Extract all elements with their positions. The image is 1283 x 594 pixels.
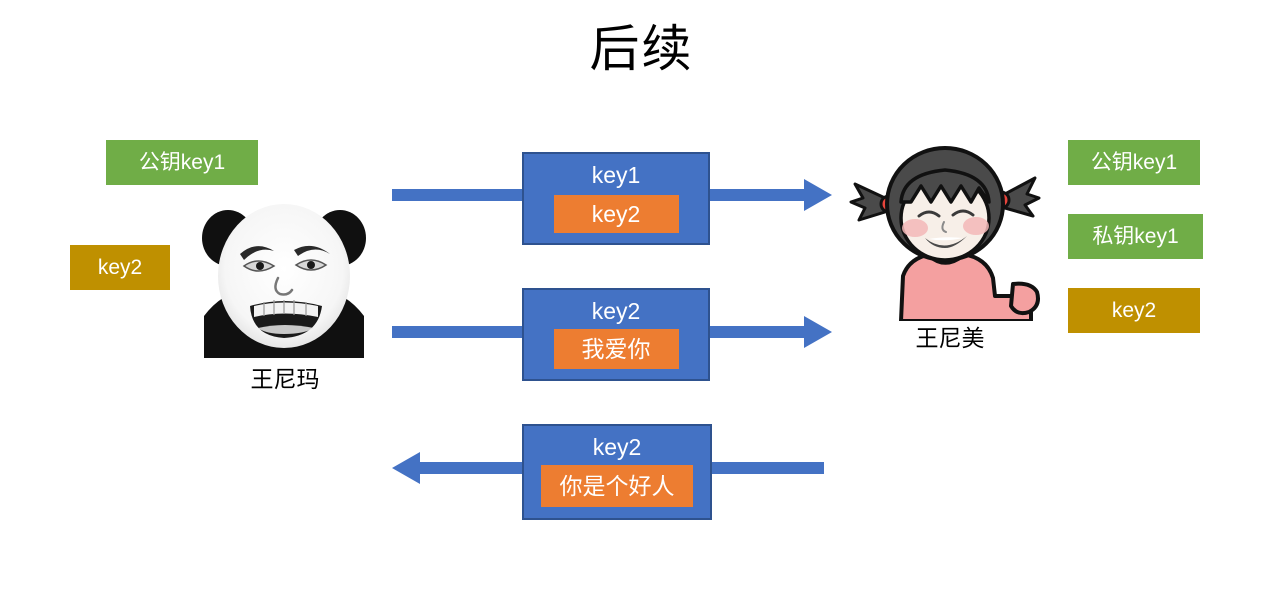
receiver-public-key-label: 公钥key1 [1091,152,1177,173]
receiver-public-key-tag: 公钥key1 [1068,140,1200,185]
sender-public-key-label: 公钥key1 [139,152,225,173]
receiver-figure [845,136,1045,321]
page-title: 后续 [0,18,1283,80]
message-2-inner-payload: 我爱你 [554,329,679,369]
message-2-outer-label: key2 [592,300,641,323]
sender-figure [194,196,374,358]
receiver-name-caption: 王尼美 [860,327,1040,350]
message-box-3: key2 你是个好人 [522,424,712,520]
message-1-outer-label: key1 [592,164,641,187]
message-3-inner-payload: 你是个好人 [541,465,693,507]
panda-face-icon [194,196,374,358]
receiver-symmetric-key-label: key2 [1112,300,1156,321]
sender-public-key-tag: 公钥key1 [106,140,258,185]
receiver-private-key-label: 私钥key1 [1092,226,1178,247]
receiver-private-key-tag: 私钥key1 [1068,214,1203,259]
message-box-2: key2 我爱你 [522,288,710,381]
receiver-symmetric-key-tag: key2 [1068,288,1200,333]
sender-symmetric-key-tag: key2 [70,245,170,290]
message-1-inner-payload: key2 [554,195,679,233]
message-3-outer-label: key2 [593,436,642,459]
girl-pigtails-icon [845,136,1045,321]
message-box-1: key1 key2 [522,152,710,245]
sender-symmetric-key-label: key2 [98,257,142,278]
slide-canvas: 后续 公钥key1 key2 公钥key1 私钥key1 key2 key1 k… [0,0,1283,594]
sender-name-caption: 王尼玛 [190,368,380,391]
